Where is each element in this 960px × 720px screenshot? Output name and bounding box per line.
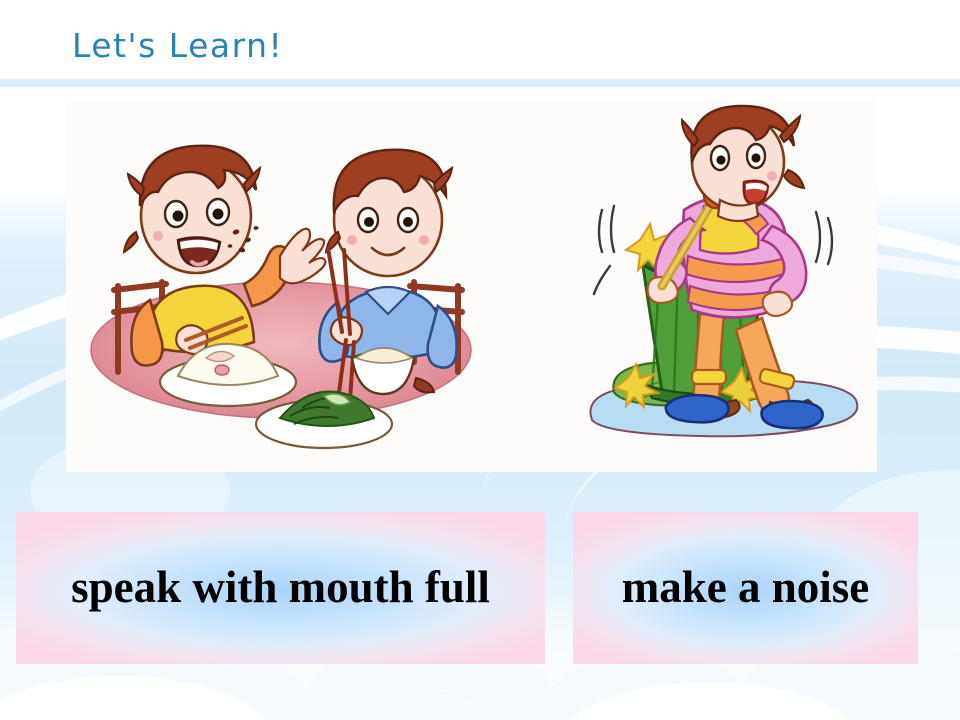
bird-icon — [438, 688, 449, 696]
illustration-two-boys-eating-at-table — [66, 100, 496, 472]
caption-text: speak with mouth full — [57, 565, 504, 611]
picture-panel — [66, 100, 877, 472]
bird-icon — [452, 672, 466, 680]
page-title: Let's Learn! — [72, 26, 283, 65]
caption-text: make a noise — [608, 565, 884, 611]
bird-icon — [460, 700, 470, 708]
illustration-child-beating-drum — [566, 100, 877, 472]
header-divider — [0, 79, 960, 87]
caption-card-make-a-noise[interactable]: make a noise — [573, 512, 918, 664]
caption-card-speak-with-mouth-full[interactable]: speak with mouth full — [16, 512, 545, 664]
slide-canvas: Let's Learn! — [0, 0, 960, 720]
